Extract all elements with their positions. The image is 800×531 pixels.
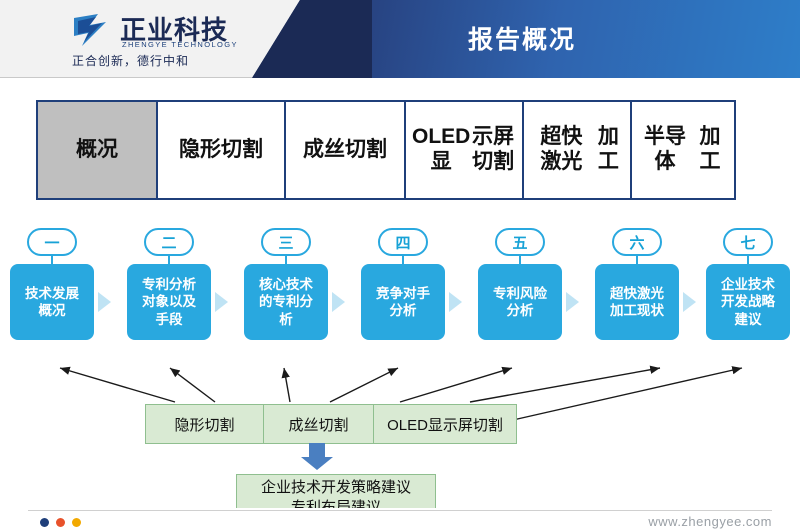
chain-node-label: 专利风险分析 [493,285,547,320]
tab-0[interactable]: 概况 [38,102,158,198]
zhengye-logo-icon [72,12,116,48]
footer-dot-0 [40,518,49,527]
tab-label-line: 超快激光 [530,125,593,175]
chain-node-number: 三 [261,228,311,256]
tab-4[interactable]: 超快激光加工 [524,102,632,198]
tab-label-line: 隐形切割 [179,138,263,163]
footer-url: www.zhengyee.com [648,514,772,529]
footer-dots [40,518,81,527]
chain-node-label: 专利分析对象以及手段 [142,276,196,328]
chain-node-connector [519,256,521,264]
header-divider [0,77,252,78]
chain-node-label-line: 建议 [721,311,775,328]
chain-node-label-line: 竞争对手 [376,285,430,302]
chain-arrow-icon [449,292,463,312]
topic-box-1[interactable]: 成丝切割 [264,405,374,443]
chain-arrow-icon [332,292,346,312]
chain-node-5[interactable]: 六超快激光加工现状 [595,228,679,340]
logo-slogan: 正合创新，德行中和 [72,52,272,69]
topic-box-0[interactable]: 隐形切割 [146,405,264,443]
down-arrow-icon [299,443,335,471]
tab-label-line: 半导体 [638,125,692,175]
chain-node-connector [285,256,287,264]
chain-node-number: 六 [612,228,662,256]
chain-node-label: 企业技术开发战略建议 [721,276,775,328]
chain-node-box[interactable]: 竞争对手分析 [361,264,445,340]
chain-node-label-line: 析 [259,311,313,328]
chain-node-label-line: 专利风险 [493,285,547,302]
process-chain: 一技术发展概况二专利分析对象以及手段三核心技术的专利分析四竞争对手分析五专利风险… [0,228,800,363]
chain-node-box[interactable]: 超快激光加工现状 [595,264,679,340]
chain-node-box[interactable]: 技术发展概况 [10,264,94,340]
topic-box-row: 隐形切割成丝切割OLED显示屏切割 [145,404,517,444]
footer-dot-1 [56,518,65,527]
chain-node-number: 五 [495,228,545,256]
chain-node-label: 技术发展概况 [25,285,79,320]
tab-1[interactable]: 隐形切割 [158,102,286,198]
tab-label-line: 加工 [593,125,624,175]
chain-node-box[interactable]: 专利风险分析 [478,264,562,340]
chain-node-number: 二 [144,228,194,256]
chain-node-connector [747,256,749,264]
chain-node-label-line: 分析 [493,302,547,319]
chain-node-label-line: 技术发展 [25,285,79,302]
chain-node-connector [402,256,404,264]
page-title: 报告概况 [372,20,672,56]
tab-5[interactable]: 半导体加工 [632,102,734,198]
chain-node-0[interactable]: 一技术发展概况 [10,228,94,340]
tab-label-line: 示屏切割 [470,125,516,175]
chain-node-label-line: 开发战略 [721,293,775,310]
company-logo: 正业科技 ZHENGYE TECHNOLOGY 正合创新，德行中和 [72,8,252,68]
chain-node-connector [168,256,170,264]
tab-label-line: 加工 [692,125,728,175]
chain-node-label: 竞争对手分析 [376,285,430,320]
page-header: 正业科技 ZHENGYE TECHNOLOGY 正合创新，德行中和 报告概况 [0,0,800,78]
chain-node-6[interactable]: 七企业技术开发战略建议 [706,228,790,340]
chain-arrow-icon [215,292,229,312]
chain-node-label-line: 的专利分 [259,293,313,310]
tab-3[interactable]: OLED显示屏切割 [406,102,524,198]
final-line-1: 企业技术开发策略建议 [261,478,411,498]
chain-node-label-line: 核心技术 [259,276,313,293]
chain-node-1[interactable]: 二专利分析对象以及手段 [127,228,211,340]
chain-arrow-icon [98,292,112,312]
chain-node-box[interactable]: 专利分析对象以及手段 [127,264,211,340]
chain-node-label-line: 加工现状 [610,302,664,319]
chain-node-label: 核心技术的专利分析 [259,276,313,328]
chain-node-label: 超快激光加工现状 [610,285,664,320]
tab-2[interactable]: 成丝切割 [286,102,406,198]
chain-node-label-line: 企业技术 [721,276,775,293]
chain-node-label-line: 分析 [376,302,430,319]
chain-node-number: 一 [27,228,77,256]
chain-node-2[interactable]: 三核心技术的专利分析 [244,228,328,340]
footer-divider [28,510,772,511]
section-tab-row: 概况隐形切割成丝切割OLED显示屏切割超快激光加工半导体加工 [36,100,736,200]
tab-label-line: OLED显 [412,125,470,175]
chain-node-box[interactable]: 核心技术的专利分析 [244,264,328,340]
footer-dot-2 [72,518,81,527]
chain-node-label-line: 手段 [142,311,196,328]
chain-node-box[interactable]: 企业技术开发战略建议 [706,264,790,340]
chain-node-label-line: 超快激光 [610,285,664,302]
chain-node-label-line: 专利分析 [142,276,196,293]
chain-node-connector [51,256,53,264]
chain-node-number: 七 [723,228,773,256]
logo-english-name: ZHENGYE TECHNOLOGY [122,40,238,49]
chain-node-4[interactable]: 五专利风险分析 [478,228,562,340]
topic-box-2[interactable]: OLED显示屏切割 [374,405,516,443]
chain-node-connector [636,256,638,264]
tab-label-line: 概况 [76,138,118,163]
chain-node-label-line: 对象以及 [142,293,196,310]
tab-label-line: 成丝切割 [303,138,387,163]
chain-arrow-icon [566,292,580,312]
chain-arrow-icon [683,292,697,312]
chain-node-3[interactable]: 四竞争对手分析 [361,228,445,340]
chain-node-label-line: 概况 [25,302,79,319]
chain-node-number: 四 [378,228,428,256]
